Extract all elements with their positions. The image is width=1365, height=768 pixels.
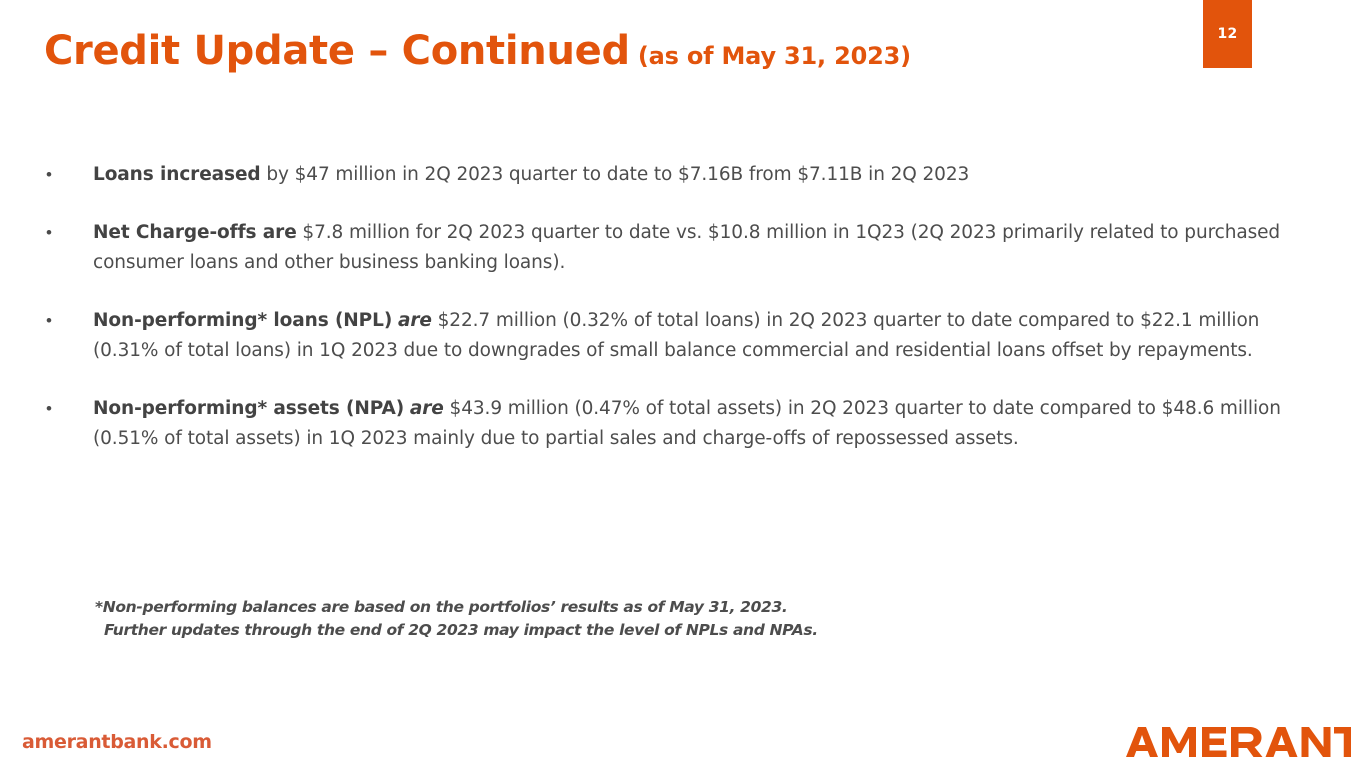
list-item-lead: Non-performing* assets (NPA) <box>93 398 404 419</box>
list-item-lead: Net Charge-offs are <box>93 222 297 243</box>
footnote-line-1: *Non-performing balances are based on th… <box>95 598 787 616</box>
list-item-text: Non-performing* assets (NPA) are $43.9 m… <box>93 394 1300 454</box>
page-title-main: Credit Update – Continued <box>44 28 630 74</box>
list-item-lead: Non-performing* loans (NPL) <box>93 310 392 331</box>
list-item-text: Net Charge-offs are $7.8 million for 2Q … <box>93 218 1300 278</box>
footnote: *Non-performing balances are based on th… <box>95 596 818 642</box>
list-item: • Loans increased by $47 million in 2Q 2… <box>40 160 1300 190</box>
list-item: • Non-performing* assets (NPA) are $43.9… <box>40 394 1300 454</box>
page-number-label: 12 <box>1218 27 1238 41</box>
list-item-text: Loans increased by $47 million in 2Q 202… <box>93 160 1300 190</box>
page-number-badge: 12 <box>1203 0 1252 68</box>
page-title-subtitle: (as of May 31, 2023) <box>638 42 911 70</box>
bullet-marker-icon: • <box>40 218 93 248</box>
bullet-list: • Loans increased by $47 million in 2Q 2… <box>40 160 1300 454</box>
amerant-logo: AMERANT <box>1123 722 1351 762</box>
list-item-lead-emphasis: are <box>398 310 432 331</box>
footnote-line-2: Further updates through the end of 2Q 20… <box>95 619 818 642</box>
bullet-marker-icon: • <box>40 394 93 424</box>
list-item-lead-emphasis: are <box>410 398 444 419</box>
slide-canvas: 12 Credit Update – Continued(as of May 3… <box>0 0 1365 768</box>
page-title: Credit Update – Continued(as of May 31, … <box>44 28 911 74</box>
list-item: • Net Charge-offs are $7.8 million for 2… <box>40 218 1300 278</box>
bullet-marker-icon: • <box>40 160 93 190</box>
list-item-text: Non-performing* loans (NPL) are $22.7 mi… <box>93 306 1300 366</box>
list-item: • Non-performing* loans (NPL) are $22.7 … <box>40 306 1300 366</box>
bullet-marker-icon: • <box>40 306 93 336</box>
list-item-lead: Loans increased <box>93 164 261 185</box>
footer-website-url[interactable]: amerantbank.com <box>22 731 212 753</box>
list-item-body: by $47 million in 2Q 2023 quarter to dat… <box>261 164 970 185</box>
